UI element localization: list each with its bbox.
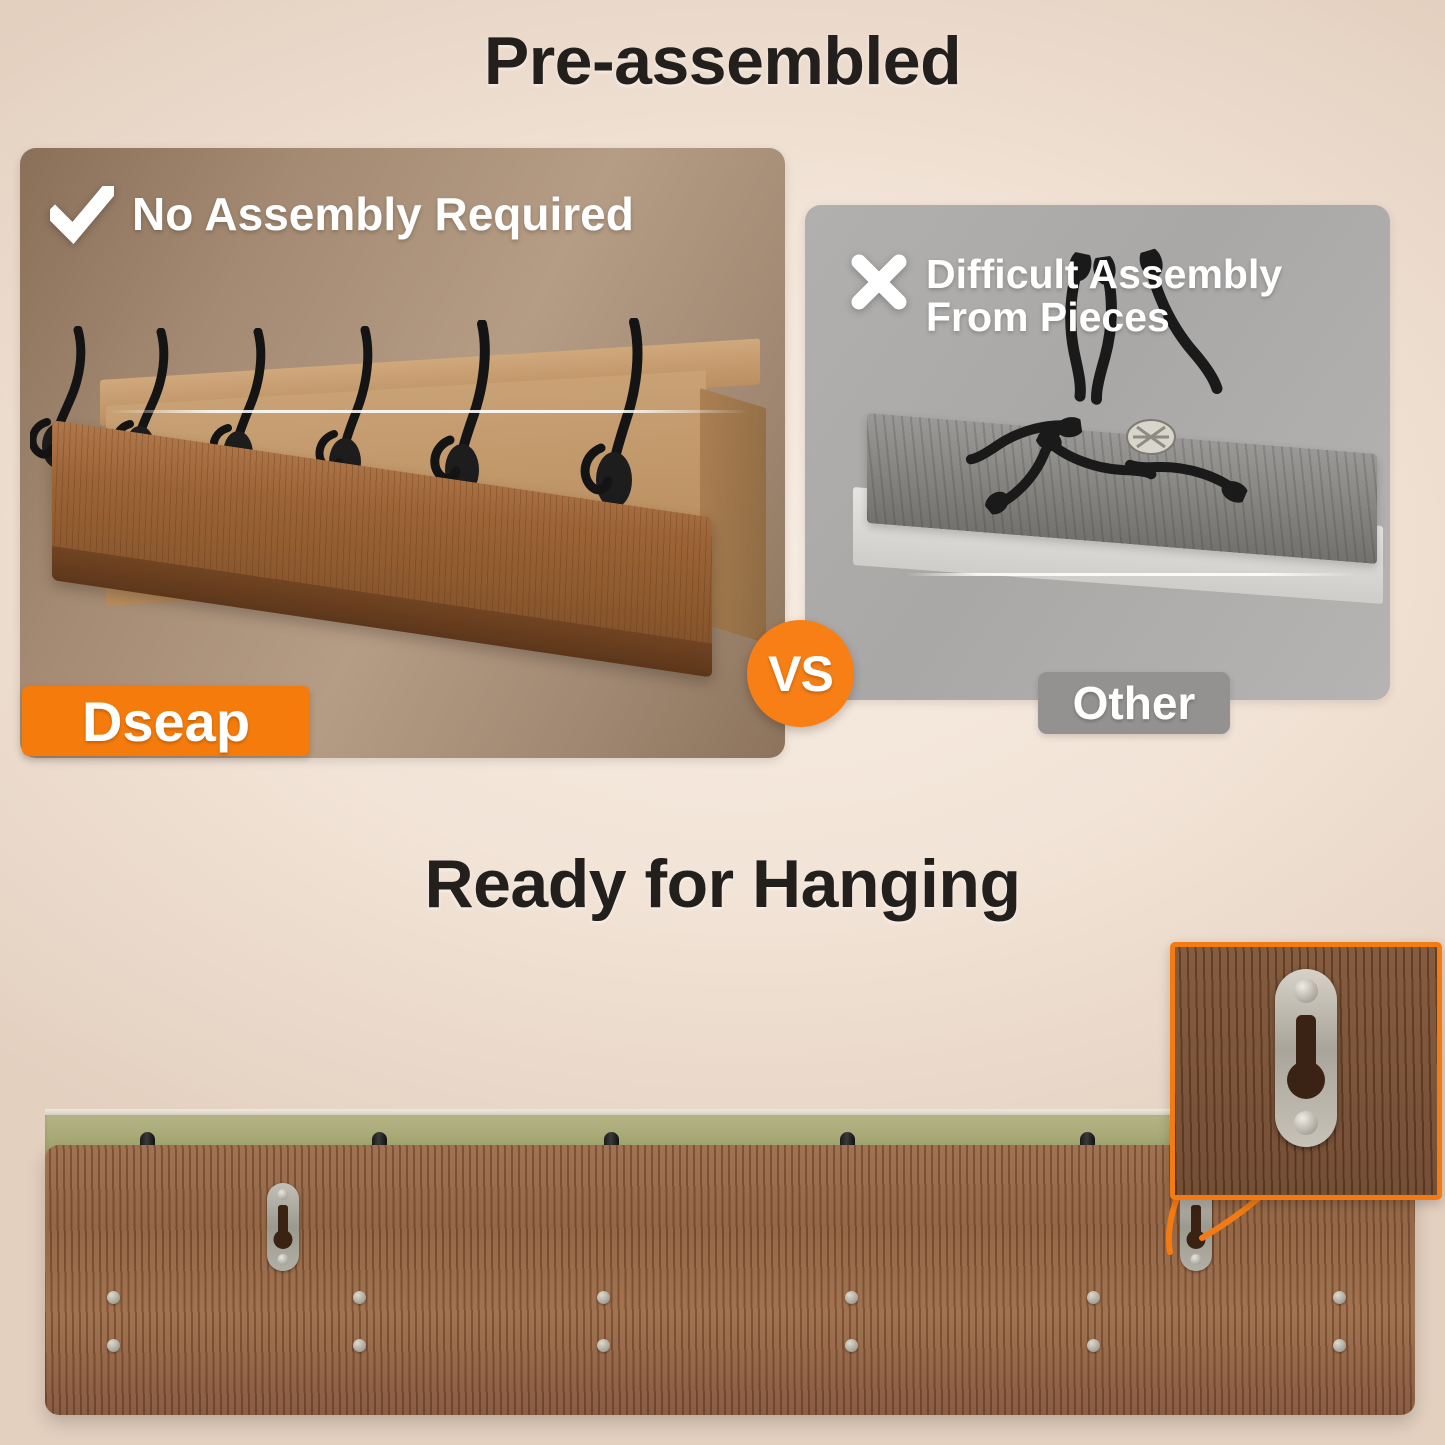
keyhole-zoom-callout [1170,942,1442,1200]
comparison-section: No Assembly Required [0,0,1445,800]
brand-badge-dseap: Dseap [22,686,310,756]
screw-head [1191,1254,1202,1265]
screw-head [107,1291,120,1304]
claim-text: Difficult Assembly From Pieces [926,253,1282,340]
screw-head [845,1291,858,1304]
page-title-ready-for-hanging: Ready for Hanging [0,845,1445,923]
screw-head [1333,1339,1346,1352]
screw-head [1087,1291,1100,1304]
screw-head [1294,979,1318,1003]
screw-head [1294,1111,1318,1135]
screw-head [597,1291,610,1304]
screw-head [278,1189,289,1200]
screw-head [1087,1339,1100,1352]
claim-line-1: Difficult Assembly [926,251,1282,297]
cross-icon [850,253,908,311]
claim-text: No Assembly Required [132,186,634,239]
other-badge: Other [1038,672,1230,734]
panel-dseap: No Assembly Required [20,148,785,758]
screw-head [353,1291,366,1304]
screw-head [845,1339,858,1352]
panel-other: Difficult Assembly From Pieces [805,205,1390,700]
vs-badge: VS [747,620,854,727]
divider [905,573,1355,576]
keyhole-slot [1296,1015,1316,1093]
screw-pack [1123,413,1179,461]
screw-head [353,1339,366,1352]
keyhole-hanger-plate [267,1183,299,1271]
keyhole-slot [278,1205,288,1247]
screw-head [1333,1291,1346,1304]
keyhole-hanger-plate-zoomed [1275,969,1337,1147]
screw-head [278,1254,289,1265]
screw-head [597,1339,610,1352]
divider [108,410,748,413]
claim-line-2: From Pieces [926,294,1170,340]
claim-no-assembly: No Assembly Required [50,186,634,244]
claim-difficult-assembly: Difficult Assembly From Pieces [850,253,1282,340]
keyhole-slot [1191,1205,1201,1247]
check-icon [50,186,114,244]
rack-hook [580,318,660,514]
screw-head [107,1339,120,1352]
hanging-section [0,940,1445,1445]
